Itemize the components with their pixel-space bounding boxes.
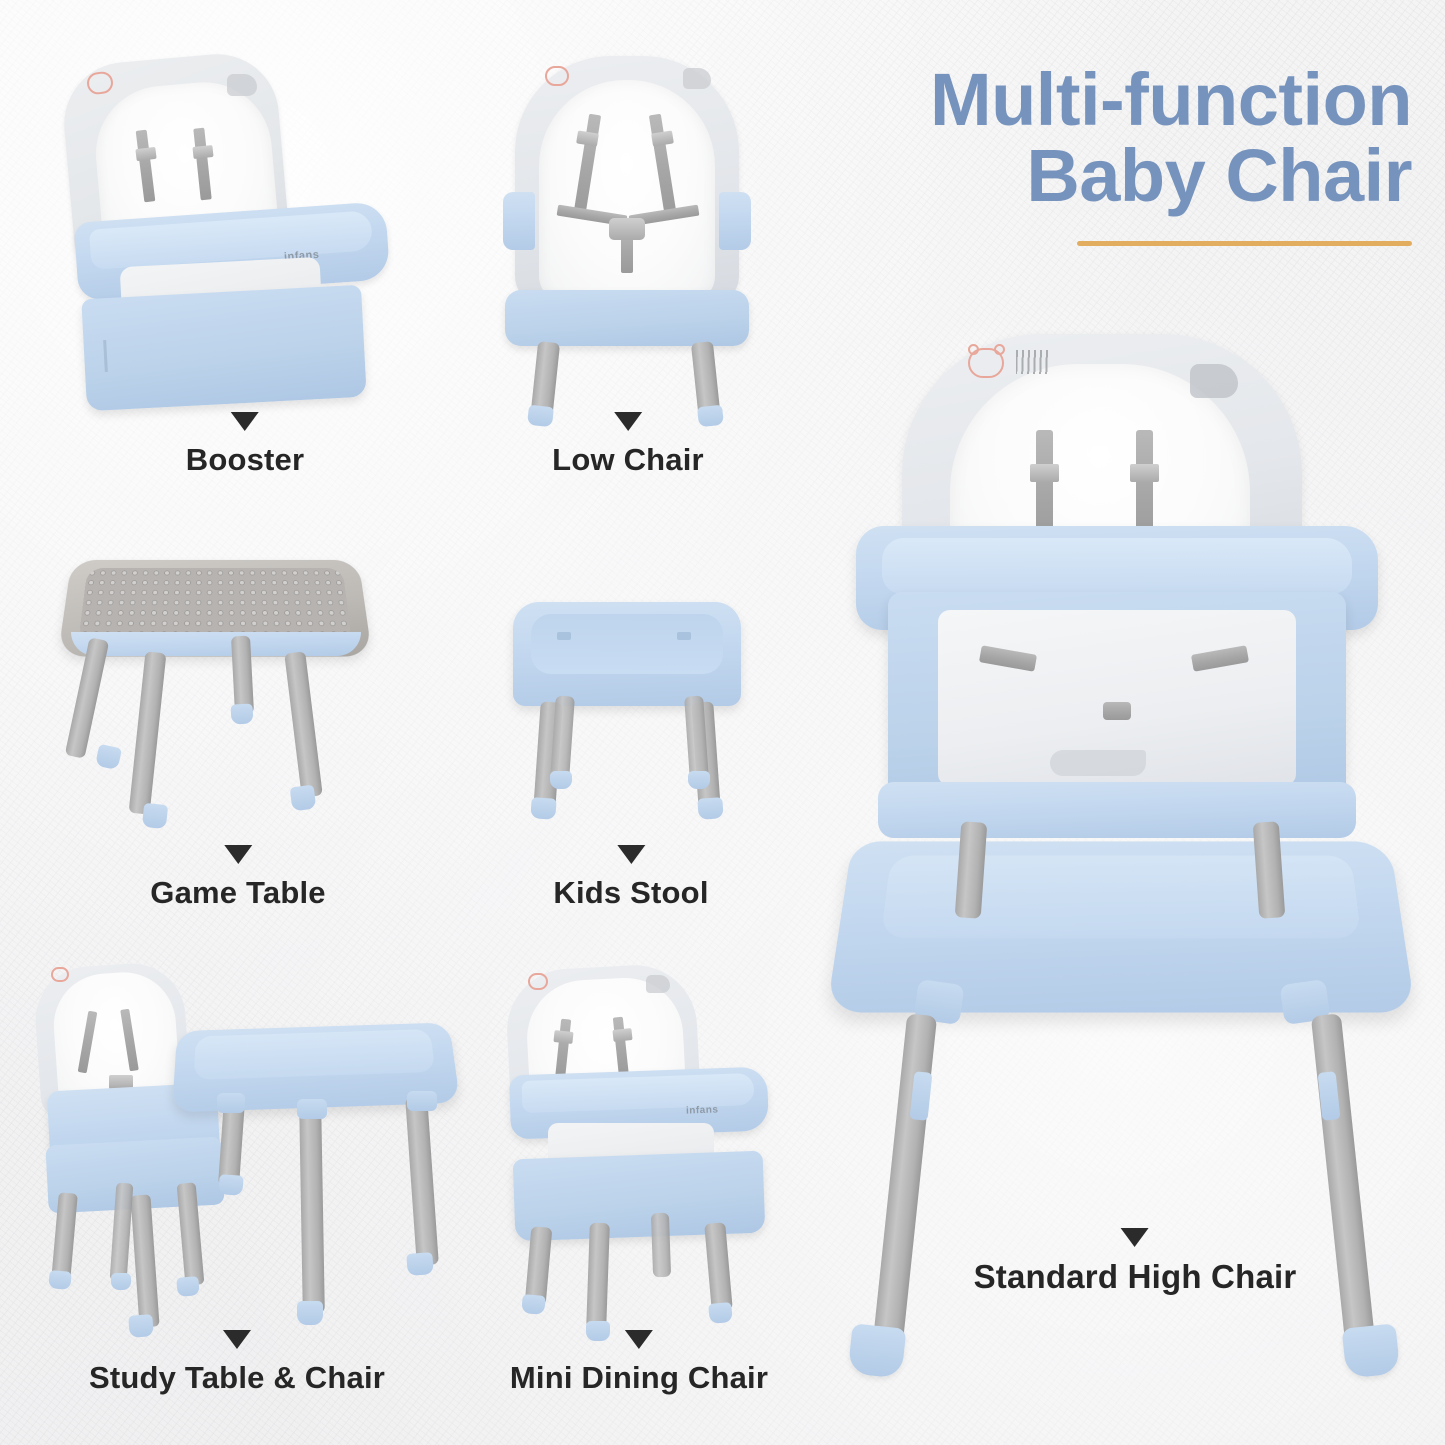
minichair-leg-back-center xyxy=(586,1223,610,1330)
caption-game-table: Game Table xyxy=(150,845,325,911)
studytable-collar-center xyxy=(297,1099,327,1119)
kidsstool-foot-back-left xyxy=(550,771,572,789)
product-study-table-chair xyxy=(25,965,465,1310)
highchair-tray-well xyxy=(882,538,1352,594)
gametable-edge-band xyxy=(71,632,361,656)
down-triangle-icon-booster xyxy=(231,412,259,431)
minichair-buckle-left xyxy=(553,1030,573,1044)
kidsstool-seat-dish xyxy=(531,614,723,674)
animal-doodle-icon xyxy=(227,74,257,96)
studychair-foot-front-left xyxy=(48,1270,71,1290)
product-low-chair xyxy=(487,52,767,417)
down-triangle-icon-mini-dining-chair xyxy=(625,1330,653,1349)
product-mini-dining-chair: infans xyxy=(490,965,790,1315)
brand-logo-minichair: infans xyxy=(686,1104,719,1116)
gametable-foot-back-right xyxy=(230,703,253,724)
animal-doodle-icon-lowchair xyxy=(683,68,711,89)
harness-buckle-left xyxy=(135,147,156,161)
highchair-crotch-strap xyxy=(1103,702,1131,720)
studytable-foot-front-left xyxy=(218,1174,243,1196)
highchair-seat-bottom-rim xyxy=(878,782,1356,838)
studytable-leg-front-center xyxy=(299,1105,325,1313)
caption-study-table-chair: Study Table & Chair xyxy=(89,1330,385,1396)
studytable-leg-right xyxy=(405,1096,439,1265)
caption-booster-label: Booster xyxy=(186,442,305,477)
studychair-foot-back-right xyxy=(176,1276,200,1297)
highchair-leg-front-right xyxy=(1311,1013,1375,1344)
down-triangle-icon-kids-stool xyxy=(617,845,645,864)
gametable-foot-front-left xyxy=(142,803,168,829)
kidsstool-slot-left xyxy=(557,632,571,640)
minichair-base xyxy=(513,1151,766,1242)
highchair-leg-tab-left xyxy=(910,1071,933,1121)
harness-buckle-right xyxy=(192,145,213,159)
headline-block: Multi-function Baby Chair xyxy=(812,62,1412,246)
studychair-foot-back-left xyxy=(111,1273,131,1290)
caption-game-table-label: Game Table xyxy=(150,875,325,910)
kidsstool-slot-right xyxy=(677,632,691,640)
bear-doodle-icon-studychair xyxy=(51,967,69,982)
kidsstool-foot-front-right xyxy=(697,797,723,820)
minichair-leg-back-right xyxy=(651,1213,671,1278)
caption-study-table-chair-label: Study Table & Chair xyxy=(89,1360,385,1395)
hippo-doodle-icon xyxy=(1190,364,1238,398)
headline-line-1: Multi-function xyxy=(812,62,1412,138)
minichair-buckle-right xyxy=(612,1028,632,1042)
minichair-foot-front-left xyxy=(521,1294,546,1315)
harness-center-buckle xyxy=(609,218,645,240)
booster-base xyxy=(81,285,366,412)
animal-doodle-icon-minichair xyxy=(646,975,670,993)
lowchair-arm-right xyxy=(719,192,751,250)
headline-underline xyxy=(1077,241,1412,246)
whale-doodle-icon xyxy=(1050,750,1146,776)
caption-mini-dining-chair-label: Mini Dining Chair xyxy=(510,1360,768,1395)
product-booster: infans xyxy=(62,52,407,402)
gametable-foot-front-right xyxy=(290,785,317,812)
caption-kids-stool-label: Kids Stool xyxy=(553,875,708,910)
bear-doodle-icon-lowchair xyxy=(545,66,569,86)
down-triangle-icon-low-chair xyxy=(614,412,642,431)
minichair-leg-front-right xyxy=(704,1222,733,1311)
caption-low-chair-label: Low Chair xyxy=(552,442,704,477)
caption-low-chair: Low Chair xyxy=(552,412,704,478)
studytable-collar-front-left xyxy=(217,1093,245,1113)
lowchair-arm-left xyxy=(503,192,535,250)
kidsstool-foot-back-right xyxy=(688,771,710,789)
product-game-table xyxy=(55,548,395,858)
highchair-foot-left xyxy=(848,1323,907,1378)
gametable-leg-back-left xyxy=(65,637,110,759)
gametable-foot-back-left xyxy=(95,744,122,770)
down-triangle-icon-standard-high-chair xyxy=(1121,1228,1149,1247)
highchair-foot-right xyxy=(1342,1323,1401,1378)
headline-line-2: Baby Chair xyxy=(812,138,1412,214)
zebra-doodle-icon xyxy=(1016,350,1048,374)
studytable-collar-right xyxy=(407,1091,437,1111)
studytable-top-sheen xyxy=(194,1029,436,1080)
kidsstool-foot-front-left xyxy=(530,797,556,820)
gametable-leg-front-right xyxy=(284,651,323,797)
bear-ear-left-icon xyxy=(968,344,979,355)
caption-booster: Booster xyxy=(186,412,305,478)
highchair-leg-front-left xyxy=(873,1013,937,1344)
down-triangle-icon-game-table xyxy=(224,845,252,864)
studytable-foot-center xyxy=(297,1301,323,1325)
studytable-foot-right xyxy=(406,1252,433,1276)
product-kids-stool xyxy=(505,596,755,856)
caption-mini-dining-chair: Mini Dining Chair xyxy=(510,1330,768,1396)
bear-ear-right-icon xyxy=(994,344,1005,355)
caption-kids-stool: Kids Stool xyxy=(553,845,708,911)
lowchair-seat-base xyxy=(505,290,749,346)
product-infographic-poster: Multi-function Baby Chair infans Booster xyxy=(0,0,1445,1445)
gametable-leg-front-left xyxy=(129,651,167,814)
lowchair-foot-left xyxy=(527,405,554,428)
caption-standard-high-chair-label: Standard High Chair xyxy=(974,1258,1297,1295)
down-triangle-icon-study-table-chair xyxy=(223,1330,251,1349)
gametable-leg-back-right xyxy=(231,636,254,715)
minichair-foot-front-right xyxy=(708,1302,733,1324)
bear-doodle-icon-minichair xyxy=(528,973,548,990)
caption-standard-high-chair: Standard High Chair xyxy=(974,1228,1297,1296)
highchair-footrest-sheen xyxy=(881,856,1362,939)
highchair-buckle-left xyxy=(1030,464,1059,482)
studychair-leg-front-right xyxy=(130,1194,159,1327)
highchair-buckle-right xyxy=(1130,464,1159,482)
